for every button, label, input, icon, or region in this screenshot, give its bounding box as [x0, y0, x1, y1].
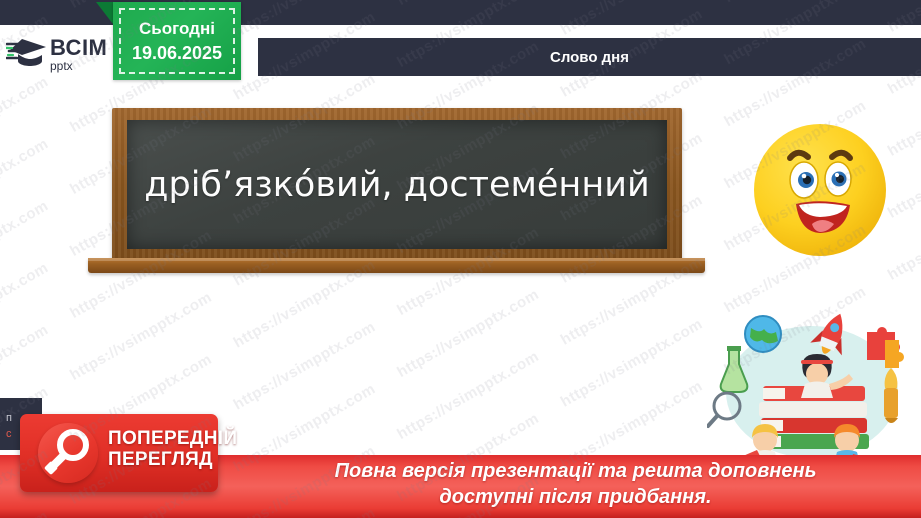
magnifier-icon — [38, 423, 98, 483]
logo-brand-text: ВСІМ — [50, 37, 107, 59]
preview-badge-line-2: ПЕРЕГЛЯД — [108, 449, 237, 470]
date-badge: Сьогодні 19.06.2025 — [113, 2, 241, 80]
preview-badge-line-1: ПОПЕРЕДНІЙ — [108, 428, 237, 449]
smiley-face-emoji-icon — [750, 120, 890, 260]
date-badge-label: Сьогодні — [139, 19, 215, 39]
slide-canvas: ВСІМ pptx Слово дня Сьогодні 19.06.2025 … — [0, 0, 921, 518]
chalkboard-ledge — [88, 258, 705, 273]
promo-line-2: доступні після придбання. — [240, 485, 911, 511]
chalkboard: дріб’язко́вий, достеме́нний — [88, 108, 705, 276]
chalkboard-surface: дріб’язко́вий, достеме́нний — [127, 120, 667, 249]
chalkboard-frame: дріб’язко́вий, достеме́нний — [112, 108, 682, 263]
logo-sub-text: pptx — [50, 60, 107, 72]
brand-logo: ВСІМ pptx — [6, 30, 106, 78]
promo-line-1: Повна версія презентації та решта доповн… — [240, 459, 911, 485]
graduation-cap-logo-icon — [6, 32, 48, 77]
word-of-the-day-text: дріб’язко́вий, достеме́нний — [144, 165, 649, 205]
slide-title-bar: Слово дня — [258, 38, 921, 76]
left-panel-line-2: с — [6, 428, 12, 440]
preview-badge: ПОПЕРЕДНІЙ ПЕРЕГЛЯД — [20, 414, 218, 492]
kids-on-books-illustration-icon — [707, 300, 917, 470]
slide-title: Слово дня — [550, 49, 629, 66]
left-panel-line-1: п — [6, 412, 12, 424]
date-badge-value: 19.06.2025 — [132, 43, 222, 64]
